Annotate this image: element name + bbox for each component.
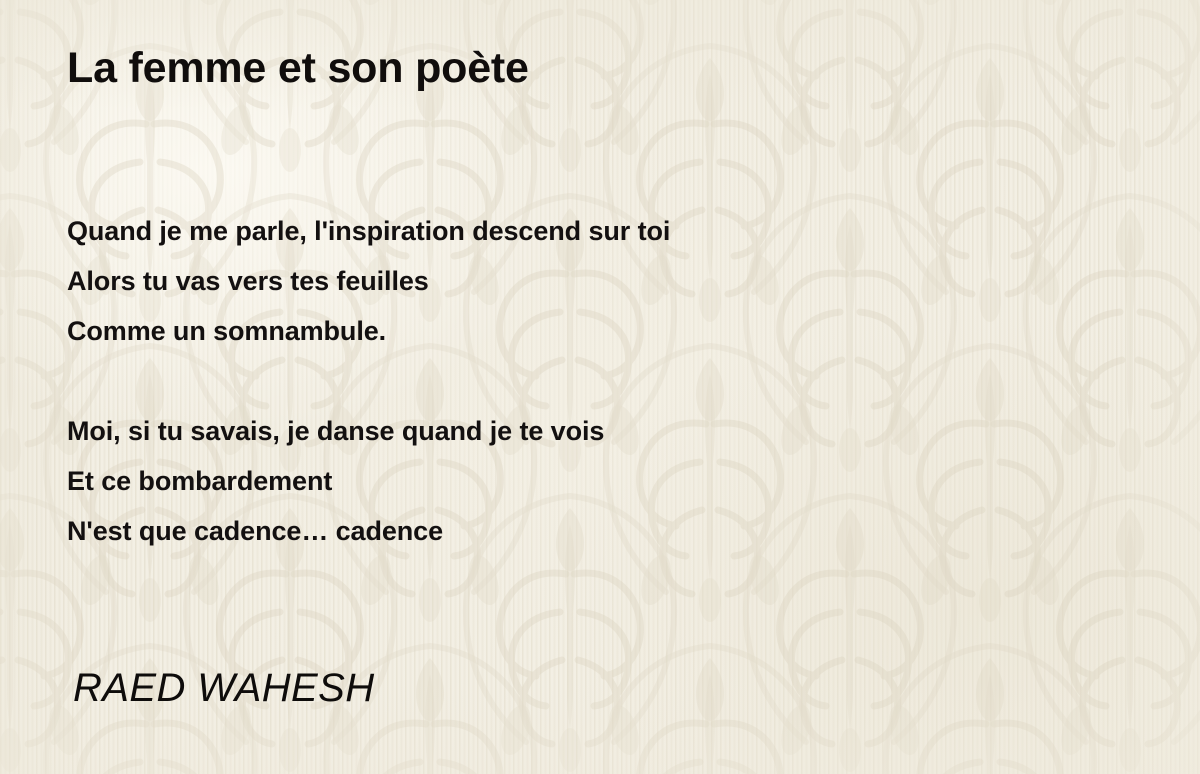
poem-line: N'est que cadence… cadence <box>67 506 1117 556</box>
poem-line: Moi, si tu savais, je danse quand je te … <box>67 406 1117 456</box>
poem-body: Quand je me parle, l'inspiration descend… <box>67 206 1117 556</box>
stanza: Moi, si tu savais, je danse quand je te … <box>67 406 1117 556</box>
poem-line: Comme un somnambule. <box>67 306 1117 356</box>
poem-title: La femme et son poète <box>67 46 529 91</box>
stanza: Quand je me parle, l'inspiration descend… <box>67 206 1117 356</box>
poem-card: La femme et son poète Quand je me parle,… <box>0 0 1200 774</box>
poem-author: RAED WAHESH <box>73 666 375 711</box>
poem-content: La femme et son poète Quand je me parle,… <box>0 0 1200 774</box>
poem-line: Alors tu vas vers tes feuilles <box>67 256 1117 306</box>
poem-line: Quand je me parle, l'inspiration descend… <box>67 206 1117 256</box>
poem-line: Et ce bombardement <box>67 456 1117 506</box>
